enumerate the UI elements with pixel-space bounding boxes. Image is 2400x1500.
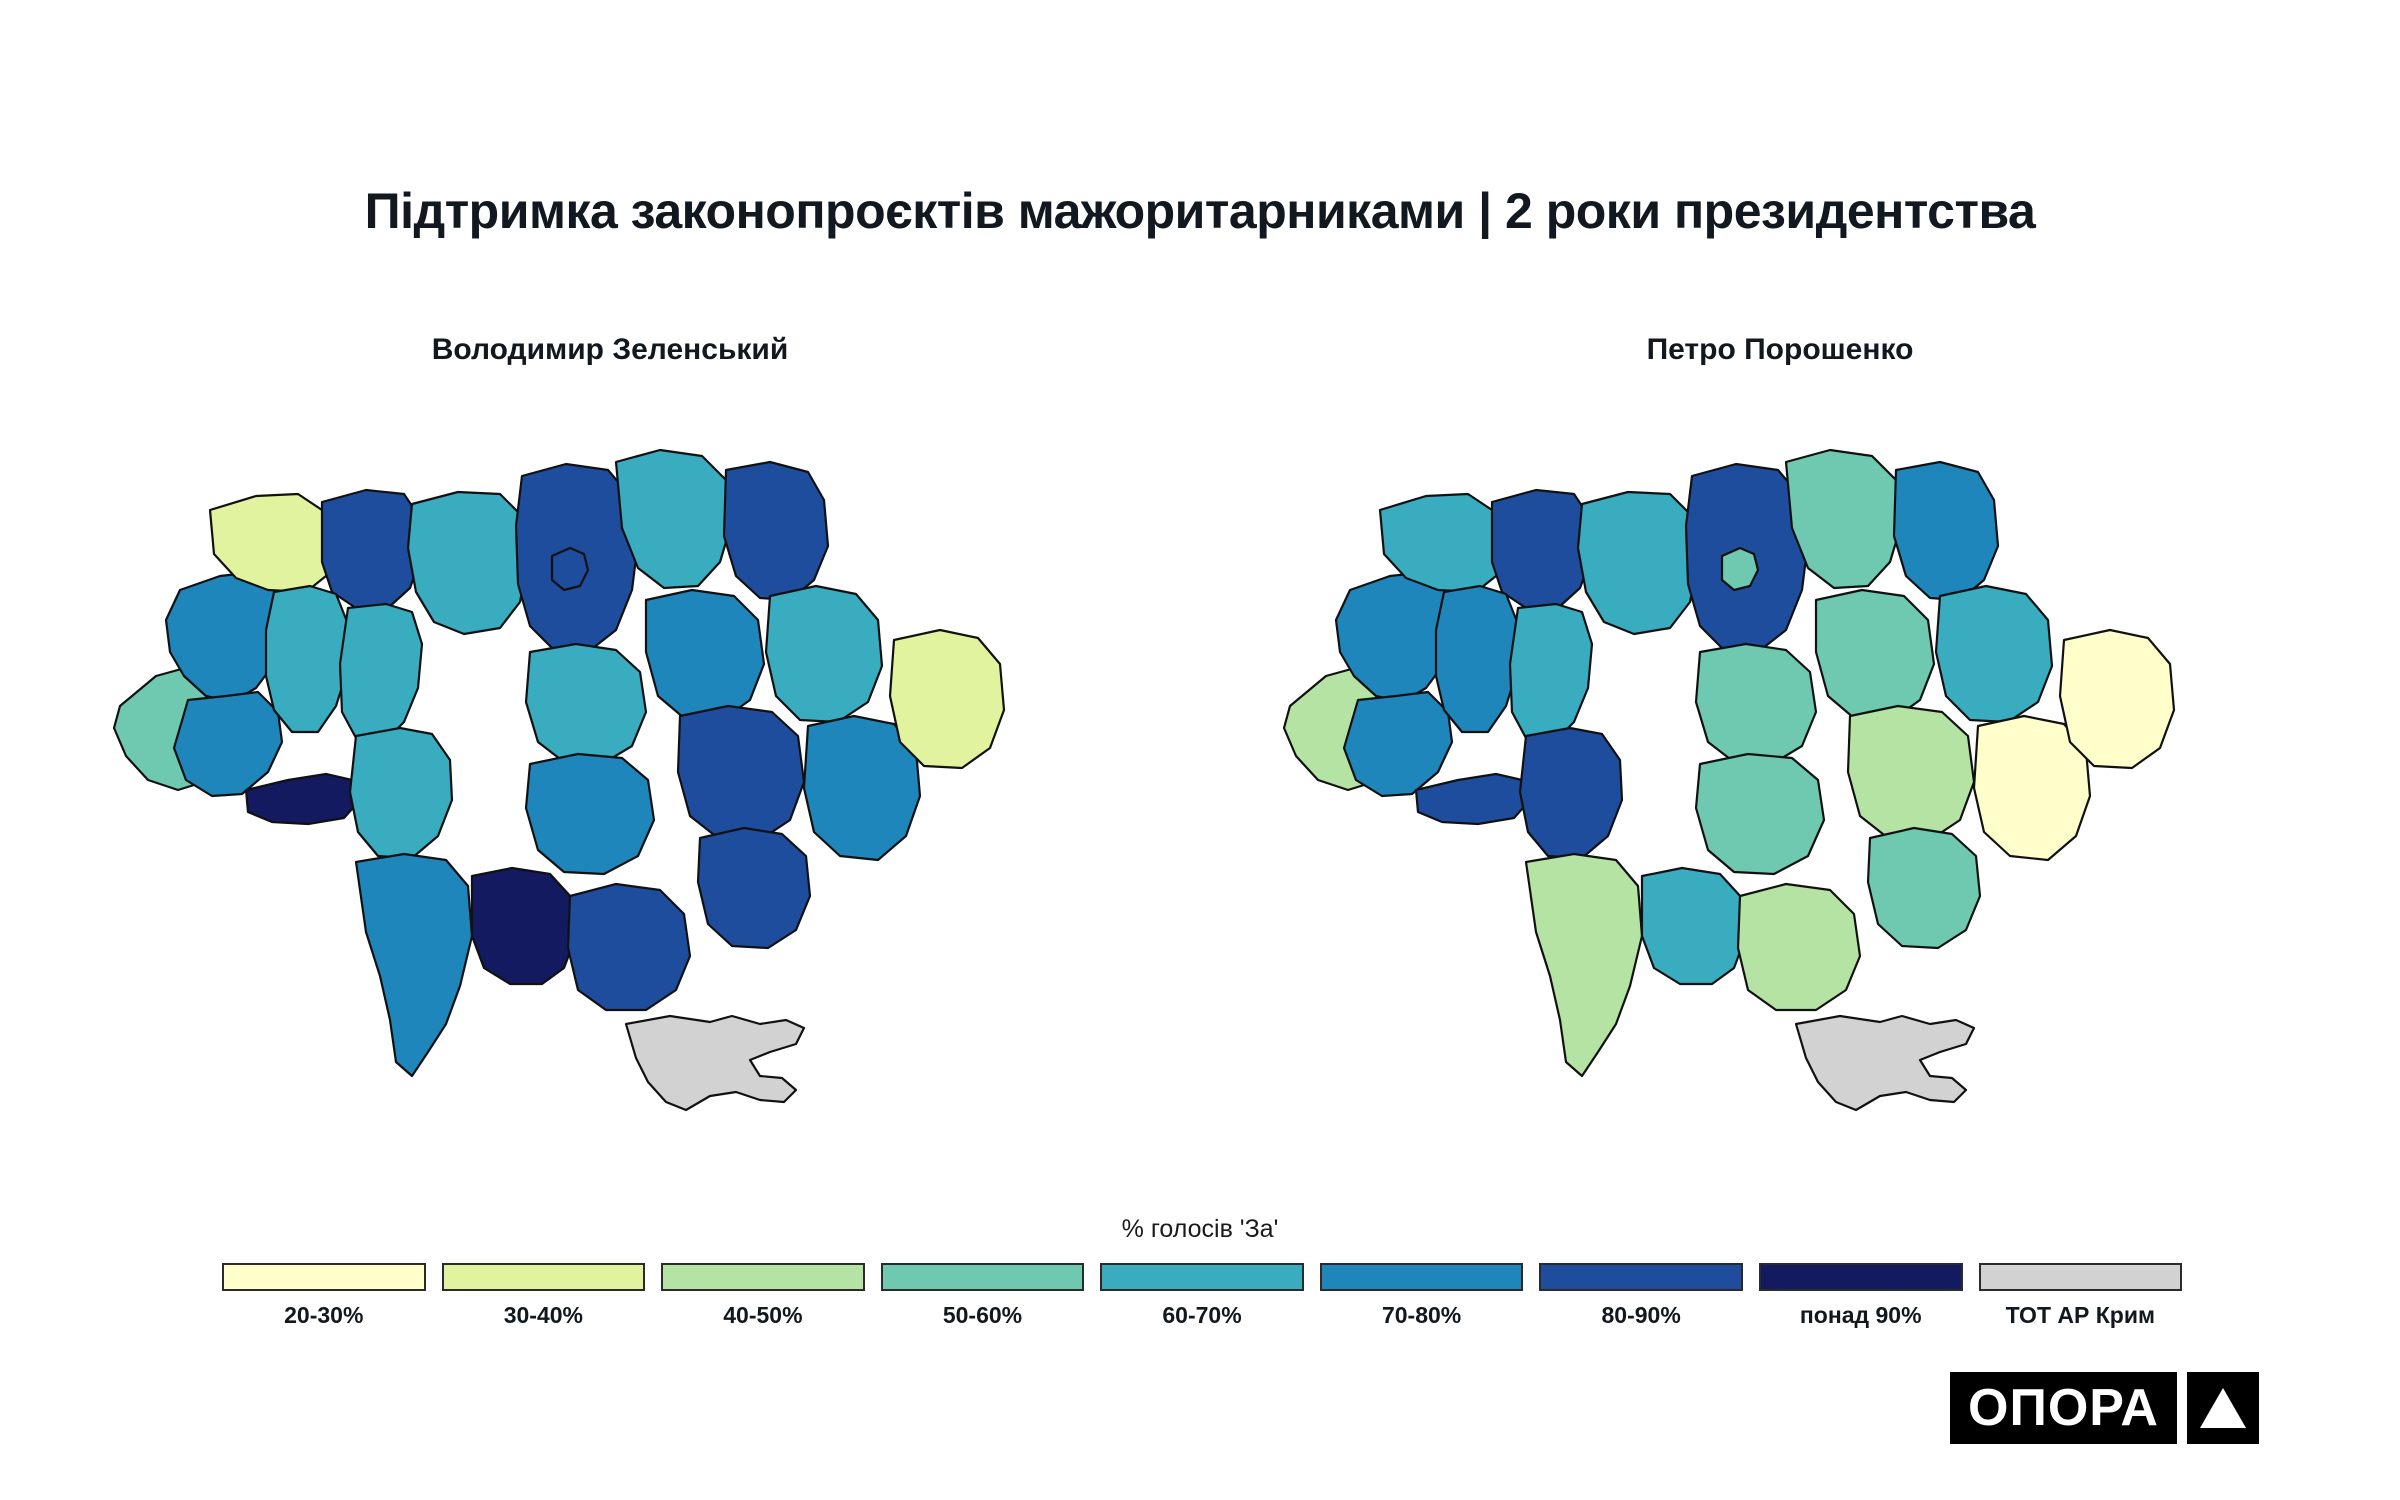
legend-item: ТОТ АР Крим [1979,1263,2183,1329]
legend-swatch [442,1263,646,1291]
map-region-chernivtsi[interactable] [1416,774,1530,824]
legend-caption: % голосів 'За' [0,1215,2400,1244]
map-region-chernivtsi[interactable] [246,774,360,824]
map-region-sumy[interactable] [1894,462,1998,600]
legend-swatch [1759,1263,1963,1291]
legend-label: 50-60% [881,1302,1085,1329]
map-region-kharkiv[interactable] [766,586,882,722]
triangle-mark-icon [2187,1372,2259,1444]
map-region-odesa[interactable] [356,854,472,1076]
infographic-page: Підтримка законопроєктів мажоритарниками… [0,0,2400,1500]
legend-swatch [1100,1263,1304,1291]
map-region-rivne[interactable] [322,490,422,608]
map-region-crimea[interactable] [1796,1016,1974,1110]
legend-label: 60-70% [1100,1302,1304,1329]
legend-label: 40-50% [661,1302,865,1329]
map-region-rivne[interactable] [1492,490,1592,608]
map-region-cherkasy[interactable] [1696,644,1816,764]
map-region-ivano-frankivsk[interactable] [1344,692,1452,796]
map-region-vinnytsia[interactable] [1520,728,1622,858]
triangle-glyph [2200,1388,2246,1428]
map-region-mykolaiv[interactable] [472,868,576,984]
map-svg-zelensky [60,376,1160,1146]
legend-items: 20-30%30-40%40-50%50-60%60-70%70-80%80-9… [222,1263,2182,1329]
map-region-kirovohrad[interactable] [526,754,654,874]
map-region-zaporizhzhia[interactable] [1868,828,1980,948]
legend-label: ТОТ АР Крим [1979,1302,2183,1329]
map-region-ternopil[interactable] [266,586,348,732]
map-region-kharkiv[interactable] [1936,586,2052,722]
map-region-khmelnytskyi[interactable] [1510,604,1592,742]
legend-swatch [1320,1263,1524,1291]
legend-item: 50-60% [881,1263,1085,1329]
ukraine-map-zelensky [60,376,1160,1146]
map-region-ivano-frankivsk[interactable] [174,692,282,796]
legend: % голосів 'За' 20-30%30-40%40-50%50-60%6… [0,1255,2400,1375]
map-region-crimea[interactable] [626,1016,804,1110]
opora-logo: ОПОРА [1950,1372,2259,1444]
map-region-kherson[interactable] [1738,884,1860,1010]
legend-item: 60-70% [1100,1263,1304,1329]
map-region-kherson[interactable] [568,884,690,1010]
map-svg-poroshenko [1230,376,2330,1146]
legend-swatch [881,1263,1085,1291]
legend-item: 70-80% [1320,1263,1524,1329]
map-region-cherkasy[interactable] [526,644,646,764]
map-panel-poroshenko: Петро Порошенко [1230,330,2330,1160]
map-region-zaporizhzhia[interactable] [698,828,810,948]
map-region-dnipropetrovsk[interactable] [678,706,804,840]
legend-item: понад 90% [1759,1263,1963,1329]
map-region-kirovohrad[interactable] [1696,754,1824,874]
map-panel-title-zelensky: Володимир Зеленський [60,330,1160,376]
map-region-luhansk[interactable] [2060,630,2174,768]
legend-label: 80-90% [1539,1302,1743,1329]
map-region-luhansk[interactable] [890,630,1004,768]
map-panel-title-poroshenko: Петро Порошенко [1230,330,2330,376]
ukraine-map-poroshenko [1230,376,2330,1146]
legend-item: 30-40% [442,1263,646,1329]
opora-logo-word: ОПОРА [1950,1372,2177,1444]
map-region-dnipropetrovsk[interactable] [1848,706,1974,840]
legend-swatch [1979,1263,2183,1291]
map-region-poltava[interactable] [1816,590,1934,720]
legend-swatch [222,1263,426,1291]
map-region-zhytomyr[interactable] [1578,492,1698,634]
map-region-zhytomyr[interactable] [408,492,528,634]
legend-label: 30-40% [442,1302,646,1329]
legend-label: 20-30% [222,1302,426,1329]
map-region-sumy[interactable] [724,462,828,600]
map-panel-zelensky: Володимир Зеленський [60,330,1160,1160]
legend-label: 70-80% [1320,1302,1524,1329]
legend-item: 80-90% [1539,1263,1743,1329]
map-region-odesa[interactable] [1526,854,1642,1076]
page-title: Підтримка законопроєктів мажоритарниками… [0,182,2400,240]
map-region-ternopil[interactable] [1436,586,1518,732]
legend-swatch [1539,1263,1743,1291]
legend-item: 20-30% [222,1263,426,1329]
legend-item: 40-50% [661,1263,865,1329]
map-region-khmelnytskyi[interactable] [340,604,422,742]
map-region-poltava[interactable] [646,590,764,720]
legend-label: понад 90% [1759,1302,1963,1329]
map-region-mykolaiv[interactable] [1642,868,1746,984]
legend-swatch [661,1263,865,1291]
map-region-vinnytsia[interactable] [350,728,452,858]
